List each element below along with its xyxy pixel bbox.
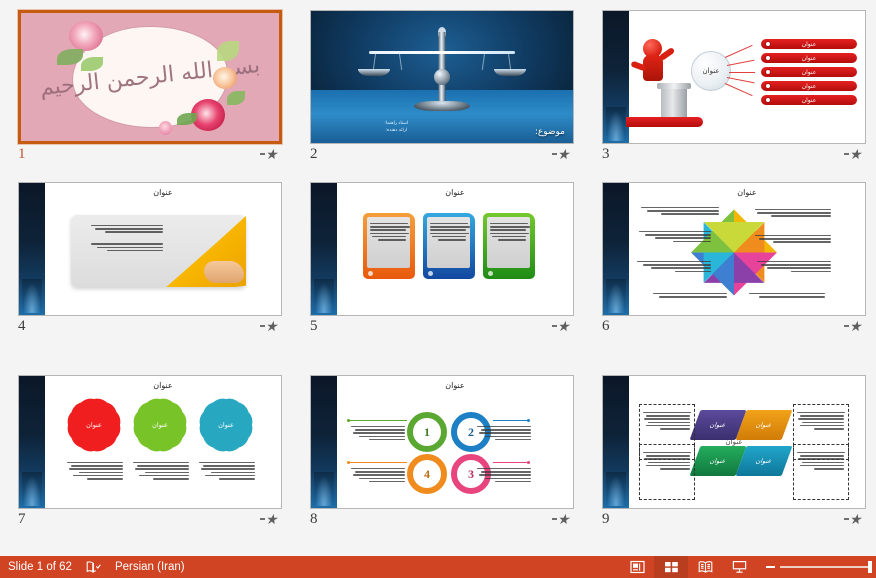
diamond-label-2: عنوان: [755, 421, 774, 429]
info-card-2: [423, 213, 475, 279]
pinwheel-text-4: [639, 205, 719, 215]
diamond-block-4: عنوان: [736, 446, 793, 476]
flower-badge-1: عنوان: [71, 402, 117, 448]
leader-line-4: [349, 462, 407, 463]
theme-side-strip: [19, 376, 45, 508]
info-card-text-3: [487, 217, 530, 268]
slide-number-1: 1: [18, 146, 26, 163]
pinwheel-text-8: [747, 291, 825, 298]
scales-motif-icon: [314, 477, 334, 503]
zoom-out-button[interactable]: [766, 566, 775, 568]
slide-number-4: 4: [18, 318, 26, 335]
leader-line-1: [349, 420, 407, 421]
slide-title-6: عنوان: [629, 188, 865, 197]
slide-meta-3: 3 ★: [602, 146, 866, 166]
body-text-4: [81, 223, 163, 251]
theme-side-strip: [603, 11, 629, 143]
bullet-bar-label-2: عنوان: [802, 55, 817, 62]
leader-dot-2: [527, 419, 530, 422]
scale-base: [414, 101, 470, 111]
ring-text-2: [475, 424, 531, 440]
bullet-bar-4: عنوان: [761, 81, 857, 91]
slide-cell-9[interactable]: عنوان عنوان عنوان عنوان عنوان: [584, 371, 876, 564]
bullet-bar-1: عنوان: [761, 39, 857, 49]
slide-meta-4: 4 ★: [18, 318, 282, 338]
animation-indicator-7[interactable]: ★: [260, 512, 278, 528]
slide-thumbnail-8[interactable]: عنوان 1 2 3 4: [310, 375, 574, 509]
connector-2: [727, 60, 755, 66]
flower-badge-3: عنوان: [203, 402, 249, 448]
slide-cell-1[interactable]: بسم الله الرحمن الرحیم 1: [0, 6, 292, 178]
leader-dot-3: [527, 461, 530, 464]
leader-dot-4: [347, 461, 350, 464]
flower-top-left: [69, 21, 103, 51]
scales-motif-icon: [22, 477, 42, 503]
slide-cell-5[interactable]: عنوان: [292, 178, 584, 371]
ring-text-1: [349, 424, 405, 440]
flower-right: [213, 67, 237, 89]
pinwheel-text-3: [753, 259, 831, 272]
slide-number-7: 7: [18, 511, 26, 528]
zoom-track[interactable]: [780, 566, 870, 568]
slide-number-2: 2: [310, 146, 318, 163]
slide-canvas-7: عنوان عنوان: [19, 376, 281, 508]
diamond-label-1: عنوان: [709, 421, 728, 429]
leader-line-3: [493, 462, 529, 463]
pinwheel-text-2: [753, 233, 831, 243]
scales-motif-icon: [606, 284, 626, 310]
slide-thumbnail-1[interactable]: بسم الله الرحمن الرحیم: [18, 10, 282, 144]
animation-indicator-2[interactable]: ★: [552, 147, 570, 163]
slide-cell-3[interactable]: عنوان عنوان عنوان عنوان عنوان عنوان: [584, 6, 876, 178]
slide-thumbnail-7[interactable]: عنوان عنوان: [18, 375, 282, 509]
podium: [661, 87, 687, 117]
slide-show-button[interactable]: [722, 556, 756, 578]
slide-thumbnail-2[interactable]: موضوع: استاد راهنما: ارائه دهنده:: [310, 10, 574, 144]
scales-motif-icon: [606, 477, 626, 503]
flower-badge-label-3: عنوان: [218, 421, 234, 429]
scale-string-4: [482, 52, 486, 70]
slide-number-9: 9: [602, 511, 610, 528]
flower-bud: [159, 121, 172, 135]
status-bar-right: [620, 556, 876, 578]
status-bar: Slide 1 of 62 Persian (Iran): [0, 556, 876, 578]
slide-title-7: عنوان: [45, 381, 281, 390]
slide-thumbnail-4[interactable]: عنوان: [18, 182, 282, 316]
bullet-bar-label-4: عنوان: [802, 83, 817, 90]
numbered-ring-4: 4: [407, 454, 447, 494]
slide-canvas-8: عنوان 1 2 3 4: [311, 376, 573, 508]
ring-number-3: 3: [468, 467, 474, 482]
slide-cell-2[interactable]: موضوع: استاد راهنما: ارائه دهنده: 2 ★: [292, 6, 584, 178]
connector-3: [729, 72, 755, 73]
slide-cell-7[interactable]: عنوان عنوان: [0, 371, 292, 564]
slide-meta-5: 5 ★: [310, 318, 574, 338]
zoom-slider[interactable]: [756, 566, 876, 568]
scales-motif-icon: [606, 112, 626, 138]
badge-text-1: [65, 460, 123, 480]
animation-indicator-8[interactable]: ★: [552, 512, 570, 528]
slide-number-6: 6: [602, 318, 610, 335]
diamond-text-box-4: [793, 444, 849, 500]
ring-text-4: [349, 466, 405, 482]
scale-column: [439, 32, 446, 101]
theme-side-strip: [311, 376, 337, 508]
slide-title-5: عنوان: [337, 188, 573, 197]
animation-indicator-1[interactable]: ★: [260, 147, 278, 163]
zoom-thumb[interactable]: [868, 561, 872, 573]
scale-string-3: [508, 52, 512, 70]
bullet-bar-2: عنوان: [761, 53, 857, 63]
slide-meta-6: 6 ★: [602, 318, 866, 338]
scale-beam: [369, 51, 516, 54]
diamond-text-box-3: [639, 444, 695, 500]
ring-text-3: [475, 466, 531, 482]
animation-indicator-3[interactable]: ★: [844, 147, 862, 163]
info-card-text-2: [427, 217, 470, 268]
scale-pan-left: [358, 69, 390, 76]
slide-title-8: عنوان: [337, 381, 573, 390]
scales-motif-icon: [314, 284, 334, 310]
slide-meta-7: 7 ★: [18, 511, 282, 531]
ring-number-4: 4: [424, 467, 430, 482]
bullet-bar-label-5: عنوان: [802, 97, 817, 104]
bullet-bar-3: عنوان: [761, 67, 857, 77]
slide-canvas-4: عنوان: [19, 183, 281, 315]
scale-string-1: [373, 52, 377, 70]
slide-meta-8: 8 ★: [310, 511, 574, 531]
pinwheel-text-7: [651, 291, 727, 298]
supervisor-label: استاد راهنما:: [384, 120, 408, 128]
slide-cell-4[interactable]: عنوان 4 ★: [0, 178, 292, 371]
diamond-block-2: عنوان: [736, 410, 793, 440]
flower-badge-2: عنوان: [137, 402, 183, 448]
slide-counter[interactable]: Slide 1 of 62: [8, 561, 72, 573]
pinwheel-graphic: [691, 209, 777, 295]
flower-badge-label-2: عنوان: [152, 421, 168, 429]
pinwheel-text-5: [635, 229, 711, 242]
slide-number-8: 8: [310, 511, 318, 528]
presenter-label: ارائه دهنده:: [384, 127, 408, 135]
scale-knob: [434, 69, 450, 85]
supervisor-presenter-block: استاد راهنما: ارائه دهنده:: [384, 120, 408, 135]
slide-title-4: عنوان: [45, 188, 281, 197]
badge-text-3: [197, 460, 255, 480]
numbered-ring-1: 1: [407, 412, 447, 452]
pinwheel-text-6: [635, 259, 711, 272]
info-card-text-1: [367, 217, 410, 268]
theme-side-strip: [603, 376, 629, 508]
slide-number-5: 5: [310, 318, 318, 335]
status-bar-left: Slide 1 of 62 Persian (Iran): [0, 560, 185, 574]
animation-indicator-6[interactable]: ★: [844, 319, 862, 335]
slide-sorter-pane[interactable]: بسم الله الرحمن الرحیم 1: [0, 0, 876, 556]
hand-graphic: [204, 261, 244, 283]
scales-motif-icon: [22, 284, 42, 310]
language-indicator[interactable]: Persian (Iran): [115, 561, 185, 573]
slide-canvas-2: موضوع: استاد راهنما: ارائه دهنده:: [311, 11, 573, 143]
powerpoint-slide-sorter-window: بسم الله الرحمن الرحیم 1: [0, 0, 876, 578]
bullet-bar-label-1: عنوان: [802, 41, 817, 48]
badge-text-2: [131, 460, 189, 480]
info-card-3: [483, 213, 535, 279]
slide-thumbnail-3[interactable]: عنوان عنوان عنوان عنوان عنوان عنوان: [602, 10, 866, 144]
scale-string-2: [399, 52, 403, 70]
slide-canvas-6: عنوان: [603, 183, 865, 315]
flower-badge-label-1: عنوان: [86, 421, 102, 429]
animation-indicator-9[interactable]: ★: [844, 512, 862, 528]
leader-dot-1: [347, 419, 350, 422]
diamond-label-3: عنوان: [709, 457, 728, 465]
animation-indicator-5[interactable]: ★: [552, 319, 570, 335]
slide-cell-6[interactable]: عنوان: [584, 178, 876, 371]
ring-number-1: 1: [424, 425, 430, 440]
bullet-bar-5: عنوان: [761, 95, 857, 105]
topic-label: موضوع:: [535, 127, 565, 137]
theme-side-strip: [19, 183, 45, 315]
slide-thumbnail-6[interactable]: عنوان: [602, 182, 866, 316]
slide-meta-1: 1 ★: [18, 146, 282, 166]
bullet-bar-label-3: عنوان: [802, 69, 817, 76]
slide-meta-2: 2 ★: [310, 146, 574, 166]
diamond-center-label: عنوان: [726, 438, 743, 446]
leader-line-2: [493, 420, 529, 421]
slide-thumbnail-9[interactable]: عنوان عنوان عنوان عنوان عنوان: [602, 375, 866, 509]
reading-view-button[interactable]: [688, 556, 722, 578]
normal-view-button[interactable]: [620, 556, 654, 578]
diamond-label-4: عنوان: [755, 457, 774, 465]
slide-sorter-view-button[interactable]: [654, 556, 688, 578]
slide-canvas-1: بسم الله الرحمن الرحیم: [21, 13, 279, 141]
slide-meta-9: 9 ★: [602, 511, 866, 531]
ring-number-2: 2: [468, 425, 474, 440]
slide-grid: بسم الله الرحمن الرحیم 1: [0, 6, 876, 564]
connector-5: [725, 83, 753, 96]
info-card-1: [363, 213, 415, 279]
leaf-e: [227, 91, 245, 105]
theme-side-strip: [603, 183, 629, 315]
slide-canvas-5: عنوان: [311, 183, 573, 315]
slide-canvas-9: عنوان عنوان عنوان عنوان عنوان: [603, 376, 865, 508]
pinwheel-text-1: [753, 207, 831, 217]
book-check-icon[interactable]: [86, 560, 101, 574]
theme-side-strip: [311, 183, 337, 315]
slide-cell-8[interactable]: عنوان 1 2 3 4: [292, 371, 584, 564]
slide-thumbnail-5[interactable]: عنوان: [310, 182, 574, 316]
slide-number-3: 3: [602, 146, 610, 163]
animation-indicator-4[interactable]: ★: [260, 319, 278, 335]
slide-canvas-3: عنوان عنوان عنوان عنوان عنوان عنوان: [603, 11, 865, 143]
connector-4: [727, 77, 755, 83]
connector-1: [725, 45, 753, 58]
